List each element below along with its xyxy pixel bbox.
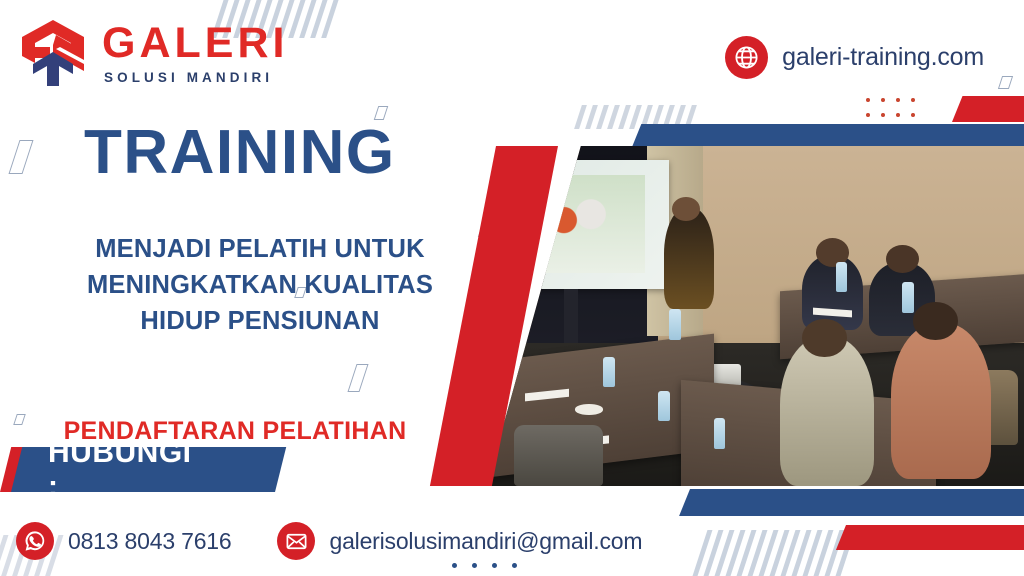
subheading-line: MENINGKATKAN KUALITAS [0,267,520,303]
logo-title: GALERI [102,22,288,65]
whatsapp-icon[interactable] [16,522,54,560]
hatch-lines-bottom-right [700,530,848,576]
email-address[interactable]: galerisolusimandiri@gmail.com [329,528,642,555]
phone-number[interactable]: 0813 8043 7616 [68,528,231,555]
email-icon[interactable] [277,522,315,560]
navy-accent-bar-bottom [679,489,1024,516]
red-accent-bar-top [952,96,1024,122]
subheading: MENJADI PELATIH UNTUK MENINGKATKAN KUALI… [0,231,520,340]
logo-tagline: SOLUSI MANDIRI [102,71,288,85]
contact-list: 0813 8043 7616 galerisolusimandiri@gmail… [16,522,642,560]
banner-canvas: GALERI SOLUSI MANDIRI galeri-training.co… [0,0,1024,576]
page-title: TRAINING [84,122,396,184]
red-accent-bar-bottom [836,525,1024,550]
subheading-line: HIDUP PENSIUNAN [0,303,520,339]
dot-row-decor [452,563,517,568]
training-photo [470,146,1024,486]
galeri-hexagon-logo-icon [16,18,90,88]
contact-banner-label: HUBUNGI : [48,447,192,492]
website-url: galeri-training.com [782,43,984,72]
speck-decor [347,364,368,392]
speck-decor [998,76,1013,89]
speck-decor [8,140,33,174]
brand-logo[interactable]: GALERI SOLUSI MANDIRI [16,18,288,88]
website-link[interactable]: galeri-training.com [725,36,984,79]
subheading-line: MENJADI PELATIH UNTUK [0,231,520,267]
globe-icon [725,36,768,79]
